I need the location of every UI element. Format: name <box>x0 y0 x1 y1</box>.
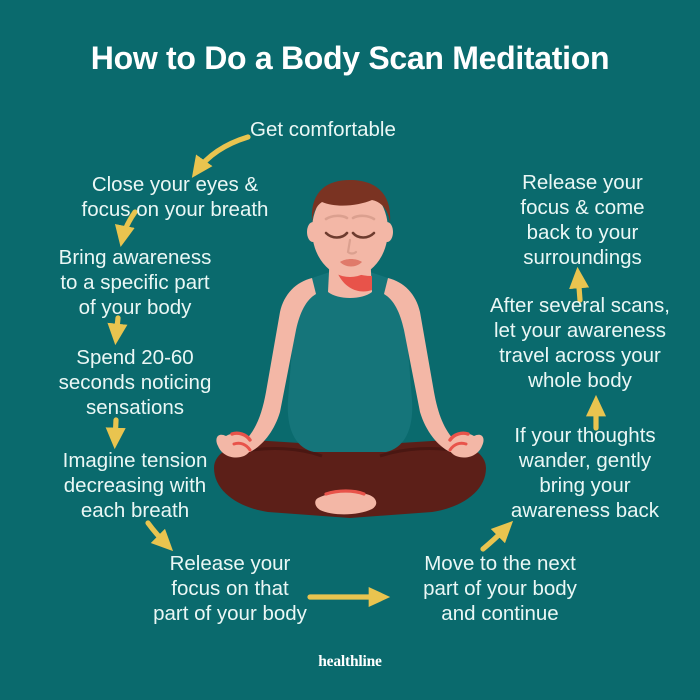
head <box>312 183 388 277</box>
arrow-to-release-your-focus <box>148 523 168 546</box>
step-after-several-scans: After several scans, let your awareness … <box>460 293 700 393</box>
right-ear <box>381 222 393 242</box>
page-title: How to Do a Body Scan Meditation <box>0 40 700 77</box>
feet-accent <box>326 491 364 494</box>
step-close-your-eyes: Close your eyes & focus on your breath <box>40 172 310 222</box>
right-eye-closed <box>353 233 374 238</box>
step-move-to-next-part: Move to the next part of your body and c… <box>375 551 625 626</box>
left-eyebrow <box>326 216 347 219</box>
tank-top <box>288 272 413 452</box>
pants-fold-right <box>380 449 462 456</box>
arrow-to-close-your-eyes <box>196 137 248 172</box>
step-get-comfortable: Get comfortable <box>250 117 470 142</box>
step-spend-seconds: Spend 20-60 seconds noticing sensations <box>10 345 260 420</box>
right-hand-accent-1 <box>450 433 468 440</box>
left-shoulder <box>282 286 308 316</box>
neck <box>328 252 372 298</box>
arrow-to-spend-seconds <box>116 318 118 338</box>
healthline-logo: healthline <box>0 653 700 671</box>
neck-shadow <box>338 264 372 291</box>
right-arm <box>384 278 472 452</box>
left-ear <box>307 222 319 242</box>
left-hand-accent-1 <box>232 433 250 440</box>
step-release-and-come-back: Release your focus & come back to your s… <box>470 170 695 270</box>
step-release-your-focus: Release your focus on that part of your … <box>110 551 350 626</box>
hair <box>312 180 390 222</box>
left-eye-closed <box>326 233 347 238</box>
right-eyebrow <box>353 216 374 219</box>
mouth <box>340 259 362 267</box>
right-shoulder <box>392 286 418 316</box>
arrow-to-imagine-tension <box>115 420 116 442</box>
step-bring-awareness: Bring awareness to a specific part of yo… <box>10 245 260 320</box>
step-if-thoughts-wander: If your thoughts wander, gently bring yo… <box>470 423 700 523</box>
right-hand-accent-2 <box>450 443 466 450</box>
infographic-poster: How to Do a Body Scan Meditation Get com… <box>0 0 700 700</box>
step-imagine-tension: Imagine tension decreasing with each bre… <box>10 448 260 523</box>
feet <box>315 492 376 514</box>
nose <box>348 240 356 254</box>
arrow-to-if-your-thoughts-wander <box>483 526 508 549</box>
